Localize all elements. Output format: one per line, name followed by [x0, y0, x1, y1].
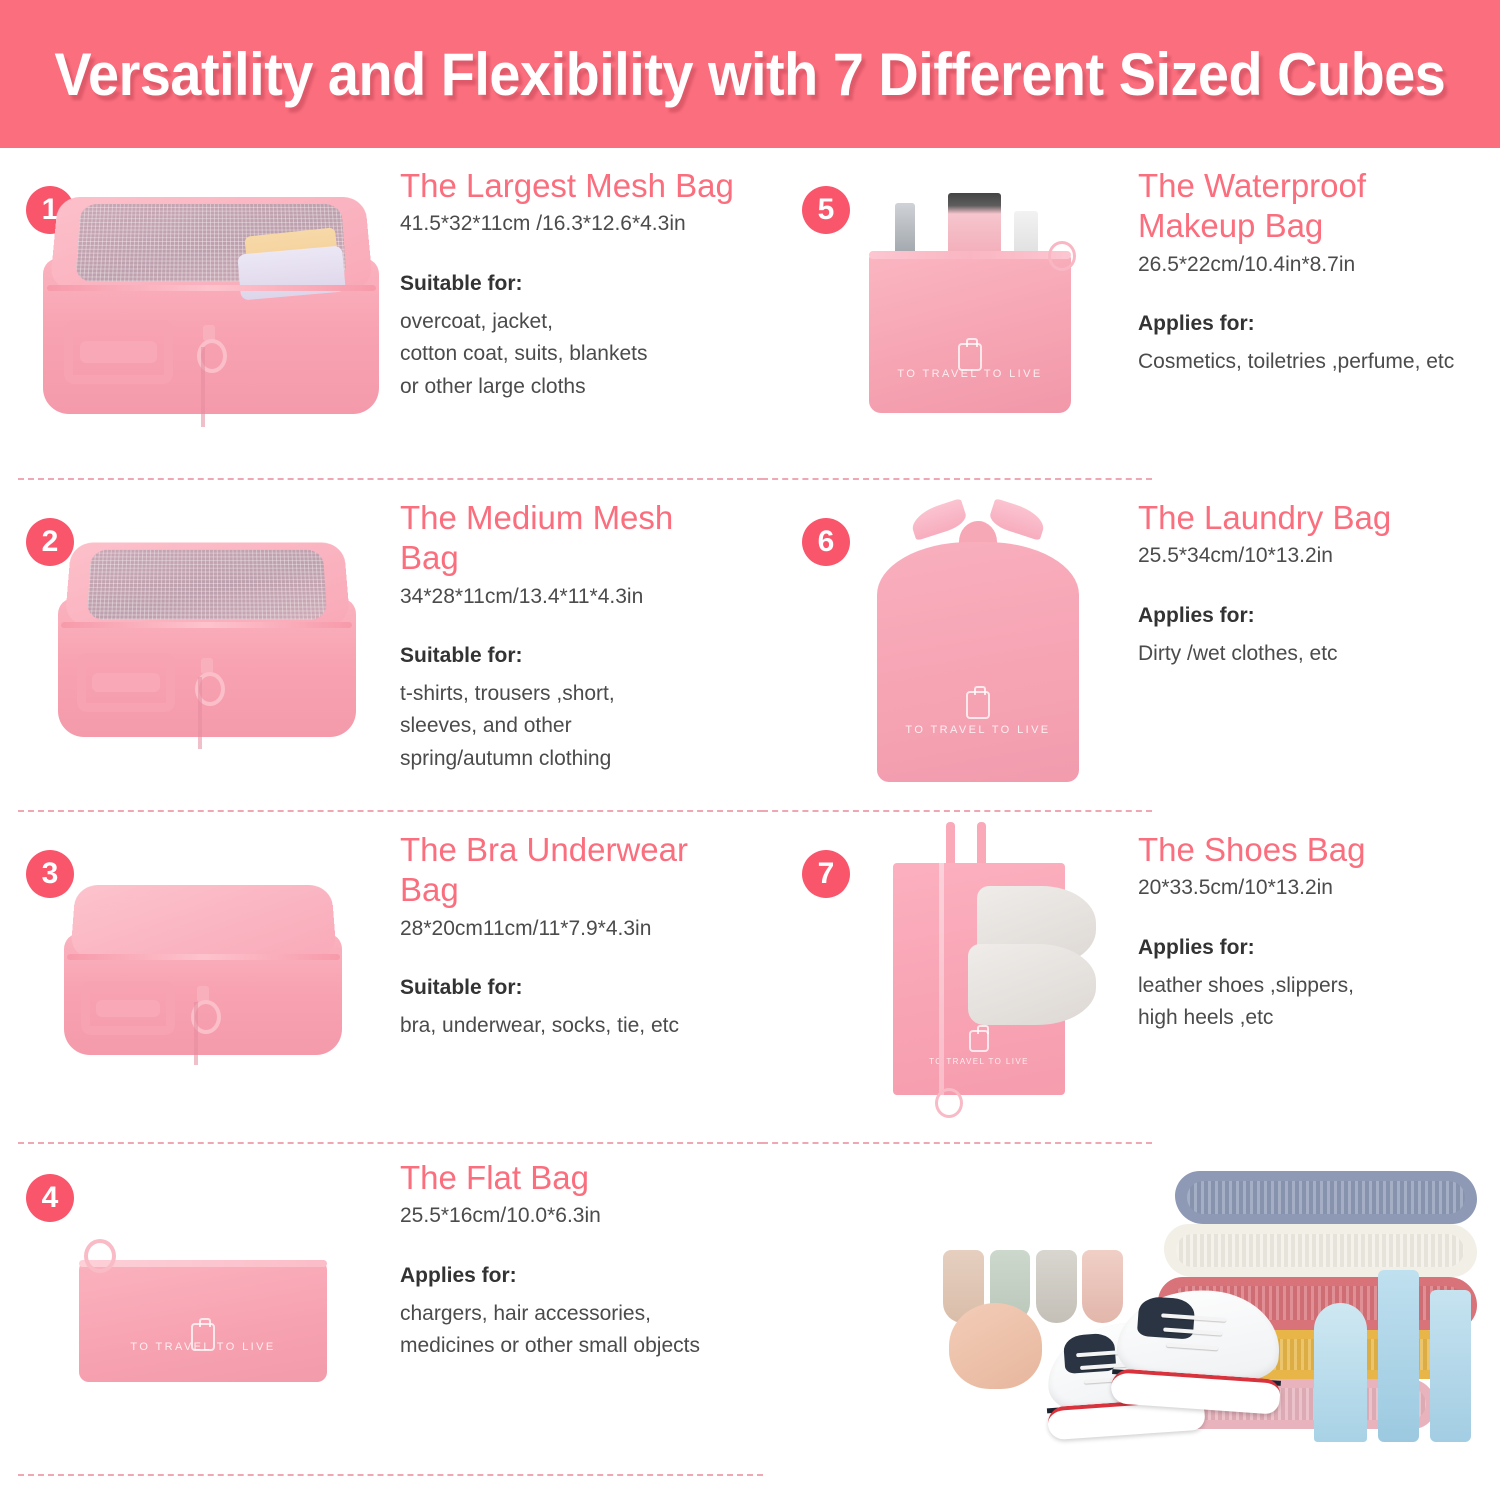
cube-lid	[70, 885, 337, 958]
packed-items-lifestyle-photo	[920, 1158, 1500, 1488]
bra-underwear-bag-photo	[58, 870, 348, 1080]
suitcase-logo-icon	[966, 691, 990, 719]
item-title-4: The Flat Bag	[400, 1158, 750, 1198]
item-number-badge-6: 6	[802, 518, 850, 566]
brand-text: TO TRAVEL TO LIVE	[79, 1341, 327, 1353]
cosmetic-bottle	[1430, 1290, 1471, 1442]
zipper-line	[46, 285, 375, 291]
item-number-badge-5: 5	[802, 186, 850, 234]
rolled-garment	[1036, 1250, 1077, 1323]
item-use-line: t-shirts, trousers ,short,	[400, 678, 740, 711]
item-text-2: The Medium Mesh Bag 34*28*11cm/13.4*11*4…	[400, 498, 740, 775]
item-use-line: medicines or other small objects	[400, 1330, 750, 1363]
packing-cube-illustration	[36, 178, 386, 446]
zipper-ring-pull-icon	[935, 1088, 963, 1118]
item-use-line: leather shoes ,slippers,	[1138, 970, 1498, 1003]
shoe-illustration	[968, 944, 1096, 1025]
largest-mesh-bag-photo	[36, 178, 386, 446]
makeup-bag-body: TO TRAVEL TO LIVE	[869, 253, 1071, 413]
item-use-line: or other large cloths	[400, 371, 740, 404]
carry-handle	[81, 981, 174, 1035]
item-dimensions-1: 41.5*32*11cm /16.3*12.6*4.3in	[400, 210, 740, 237]
right-column: 5 TO TRAVEL TO LIVE The Waterproof Mak	[750, 148, 1500, 1500]
brand-text: TO TRAVEL TO LIVE	[893, 1057, 1065, 1066]
item-use-line: high heels ,etc	[1138, 1002, 1498, 1035]
zipper-line	[61, 622, 353, 628]
shoes-bag-illustration: TO TRAVEL TO LIVE	[880, 822, 1100, 1112]
item-dimensions-2: 34*28*11cm/13.4*11*4.3in	[400, 583, 740, 610]
item-use-line: Cosmetics, toiletries ,perfume, etc	[1138, 346, 1498, 379]
carry-handle	[77, 653, 176, 712]
zipper-line	[79, 1260, 327, 1267]
row-divider	[18, 1474, 763, 1476]
item-title-1: The Largest Mesh Bag	[400, 166, 740, 206]
zipper-ring-pull-icon	[1048, 241, 1076, 271]
zipper-line	[869, 251, 1071, 259]
feature-row-5: 5 TO TRAVEL TO LIVE The Waterproof Mak	[750, 148, 1500, 478]
cube-seam	[194, 1002, 198, 1065]
suitcase-logo-icon	[958, 343, 982, 371]
feature-row-1: 1 The Largest Mesh Bag	[0, 148, 750, 478]
folded-cloth-lavender	[237, 246, 346, 301]
cube-seam	[198, 677, 202, 749]
feature-row-3: 3 The Bra Underwear Bag 28*20cm11cm/11*7…	[0, 812, 750, 1142]
item-title-2: The Medium Mesh Bag	[400, 498, 740, 579]
brand-text: TO TRAVEL TO LIVE	[869, 368, 1071, 380]
cosmetic-tube	[1314, 1303, 1366, 1442]
item-title-6: The Laundry Bag	[1138, 498, 1498, 538]
item-use-line: bra, underwear, socks, tie, etc	[400, 1010, 750, 1043]
item-use-label-7: Applies for:	[1138, 936, 1498, 960]
item-title-3: The Bra Underwear Bag	[400, 830, 750, 911]
item-title-5: The Waterproof Makeup Bag	[1138, 166, 1498, 247]
item-use-label-3: Suitable for:	[400, 976, 750, 1000]
packing-cube-illustration	[52, 526, 362, 766]
item-use-label-2: Suitable for:	[400, 644, 740, 668]
pouch-body: TO TRAVEL TO LIVE	[79, 1260, 327, 1382]
row-divider	[762, 1142, 1152, 1144]
cosmetic-bottle	[1378, 1270, 1419, 1442]
laundry-bag-photo: TO TRAVEL TO LIVE	[858, 494, 1098, 794]
item-number-badge-7: 7	[802, 850, 850, 898]
cube-seam	[201, 347, 205, 427]
item-text-6: The Laundry Bag 25.5*34cm/10*13.2in Appl…	[1138, 498, 1498, 670]
rolled-garment	[1082, 1250, 1123, 1323]
item-text-7: The Shoes Bag 20*33.5cm/10*13.2in Applie…	[1138, 830, 1498, 1035]
drawstring-bow-right	[987, 498, 1048, 541]
laundry-bag-illustration: TO TRAVEL TO LIVE	[858, 494, 1098, 794]
feature-row-4: 4 TO TRAVEL TO LIVE The Flat Bag 25.5*16…	[0, 1144, 750, 1500]
feature-row-7: 7 TO TRAVEL TO LIVE The Shoes Bag	[750, 812, 1500, 1142]
item-use-line: overcoat, jacket,	[400, 306, 740, 339]
mesh-panel	[87, 549, 327, 619]
item-dimensions-3: 28*20cm11cm/11*7.9*4.3in	[400, 915, 750, 942]
left-column: 1 The Largest Mesh Bag	[0, 148, 750, 1500]
item-text-4: The Flat Bag 25.5*16cm/10.0*6.3in Applie…	[400, 1158, 750, 1363]
feature-row-2: 2 The Medium Mesh Bag 34*28*11cm/13.4*11…	[0, 480, 750, 810]
makeup-bag-illustration: TO TRAVEL TO LIVE	[860, 188, 1080, 438]
item-title-7: The Shoes Bag	[1138, 830, 1498, 870]
item-use-line: cotton coat, suits, blankets	[400, 338, 740, 371]
item-text-5: The Waterproof Makeup Bag 26.5*22cm/10.4…	[1138, 166, 1498, 378]
bag-handle-loop	[946, 822, 955, 868]
item-use-label-6: Applies for:	[1138, 604, 1498, 628]
flat-bag-photo: TO TRAVEL TO LIVE	[68, 1236, 338, 1406]
brand-text: TO TRAVEL TO LIVE	[877, 724, 1079, 736]
item-text-3: The Bra Underwear Bag 28*20cm11cm/11*7.9…	[400, 830, 750, 1042]
folded-sweater	[1164, 1224, 1477, 1277]
medium-mesh-bag-photo	[52, 526, 362, 766]
bra-illustration	[949, 1303, 1042, 1389]
suitcase-logo-icon	[969, 1030, 989, 1052]
waterproof-makeup-bag-photo: TO TRAVEL TO LIVE	[860, 188, 1080, 438]
laundry-bag-body: TO TRAVEL TO LIVE	[877, 542, 1079, 782]
zipper-line	[67, 954, 340, 960]
folded-sweater	[1175, 1171, 1477, 1224]
bag-handle-loop	[977, 822, 986, 868]
item-dimensions-4: 25.5*16cm/10.0*6.3in	[400, 1202, 750, 1229]
item-use-line: chargers, hair accessories,	[400, 1298, 750, 1331]
packing-cube-illustration	[58, 870, 348, 1080]
carry-handle	[64, 320, 173, 384]
zipper-line	[939, 863, 944, 1095]
item-dimensions-5: 26.5*22cm/10.4in*8.7in	[1138, 251, 1498, 278]
shoes-bag-photo: TO TRAVEL TO LIVE	[880, 822, 1100, 1112]
item-use-label-4: Applies for:	[400, 1264, 750, 1288]
item-dimensions-6: 25.5*34cm/10*13.2in	[1138, 542, 1498, 569]
item-use-line: spring/autumn clothing	[400, 743, 740, 776]
item-use-line: Dirty /wet clothes, etc	[1138, 638, 1498, 671]
item-number-badge-4: 4	[26, 1174, 74, 1222]
sneaker-illustration	[1113, 1284, 1283, 1414]
item-text-1: The Largest Mesh Bag 41.5*32*11cm /16.3*…	[400, 166, 740, 403]
page-header-banner: Versatility and Flexibility with 7 Diffe…	[0, 0, 1500, 148]
page-title: Versatility and Flexibility with 7 Diffe…	[54, 40, 1445, 109]
item-use-label-1: Suitable for:	[400, 272, 740, 296]
product-feature-board: 1 The Largest Mesh Bag	[0, 148, 1500, 1500]
item-use-label-5: Applies for:	[1138, 312, 1498, 336]
flat-pouch-illustration: TO TRAVEL TO LIVE	[68, 1236, 338, 1406]
feature-row-6: 6 TO TRAVEL TO LIVE The Laundry Bag 25.5…	[750, 480, 1500, 810]
item-dimensions-7: 20*33.5cm/10*13.2in	[1138, 874, 1498, 901]
item-use-line: sleeves, and other	[400, 710, 740, 743]
